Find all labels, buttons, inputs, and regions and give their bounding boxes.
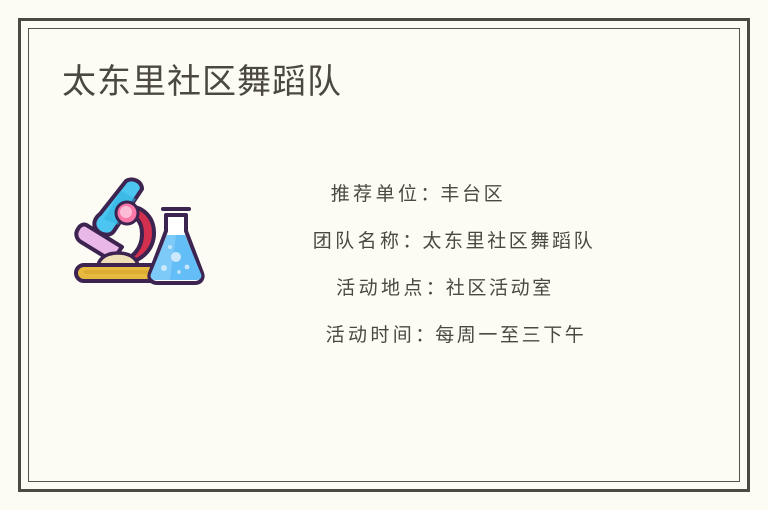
info-label: 推荐单位 [331, 183, 421, 205]
info-separator: ： [402, 230, 422, 252]
info-separator: ： [426, 277, 446, 299]
info-list: 推荐单位：丰台区 团队名称：太东里社区舞蹈队 活动地点：社区活动室 活动时间：每… [206, 171, 706, 359]
info-card: 太东里社区舞蹈队 [18, 18, 750, 492]
info-value: 丰台区 [440, 183, 505, 205]
info-label: 团队名称 [313, 230, 403, 252]
microscope-flask-icon [66, 173, 206, 291]
content-row: 推荐单位：丰台区 团队名称：太东里社区舞蹈队 活动地点：社区活动室 活动时间：每… [21, 151, 747, 391]
info-separator: ： [420, 183, 440, 205]
info-value: 太东里社区舞蹈队 [422, 230, 595, 252]
info-label: 活动时间 [326, 324, 416, 346]
info-row-activity-time: 活动时间：每周一至三下午 [206, 312, 706, 359]
info-value: 每周一至三下午 [435, 324, 586, 346]
info-row-activity-location: 活动地点：社区活动室 [206, 265, 706, 312]
info-row-recommending-unit: 推荐单位：丰台区 [206, 171, 706, 218]
info-value: 社区活动室 [446, 277, 554, 299]
page-title: 太东里社区舞蹈队 [62, 61, 342, 103]
info-separator: ： [415, 324, 435, 346]
info-row-team-name: 团队名称：太东里社区舞蹈队 [206, 218, 706, 265]
info-label: 活动地点 [336, 277, 426, 299]
